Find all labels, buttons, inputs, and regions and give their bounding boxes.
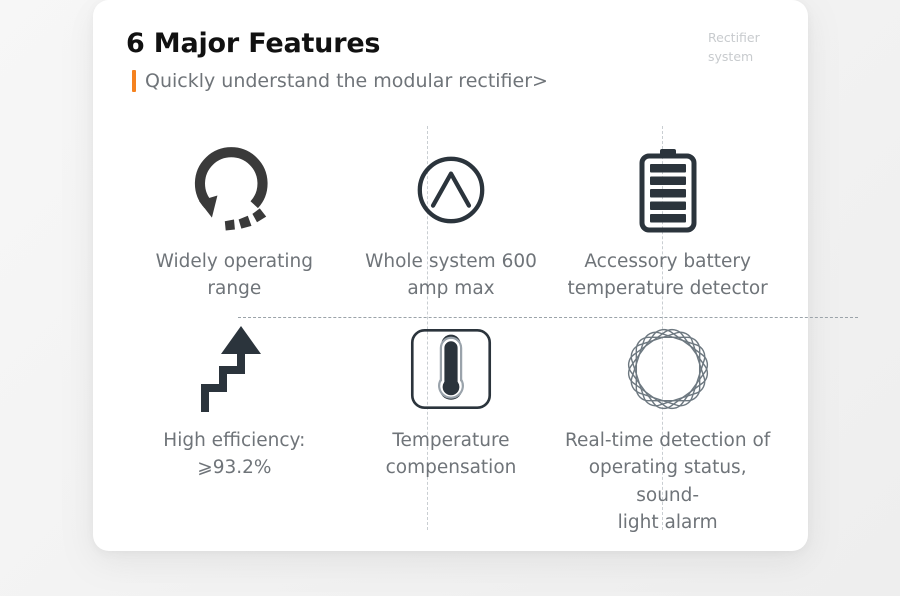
feature-label-6: Real-time detection of operating status,…: [560, 427, 775, 537]
feature-cell-6: Real-time detection of operating status,…: [559, 303, 776, 537]
page-subtitle: Quickly understand the modular rectifier…: [145, 70, 548, 92]
page-background: 6 Major Features Quickly understand the …: [0, 0, 900, 596]
feature-cell-3: Accessory battery temperature detector: [559, 126, 776, 303]
feature-cell-5: Temperature compensation: [343, 303, 560, 537]
subtitle-row: Quickly understand the modular rectifier…: [132, 70, 548, 92]
thermometer-icon: [407, 317, 495, 421]
feature-card: 6 Major Features Quickly understand the …: [93, 0, 808, 551]
circular-arrow-range-icon: [188, 138, 280, 242]
feature-cell-4: High efficiency: ⩾93.2%: [126, 303, 343, 537]
feature-label-1: Widely operating range: [127, 248, 342, 303]
corner-label: Rectifier system: [708, 28, 778, 67]
page-title: 6 Major Features: [126, 28, 380, 59]
battery-full-icon: [637, 138, 699, 242]
feature-cell-1: Widely operating range: [126, 126, 343, 303]
feature-label-2: Whole system 600 amp max: [365, 248, 537, 303]
feature-label-5: Temperature compensation: [386, 427, 517, 482]
feature-label-3: Accessory battery temperature detector: [568, 248, 768, 303]
circle-chevron-up-icon: [412, 138, 490, 242]
stairs-up-arrow-icon: [198, 317, 270, 421]
feature-cell-2: Whole system 600 amp max: [343, 126, 560, 303]
features-grid: Widely operating range Whole system 600 …: [126, 126, 776, 530]
feature-label-4: High efficiency: ⩾93.2%: [163, 427, 305, 482]
accent-bar-icon: [132, 70, 136, 92]
radar-spirograph-icon: [624, 317, 712, 421]
